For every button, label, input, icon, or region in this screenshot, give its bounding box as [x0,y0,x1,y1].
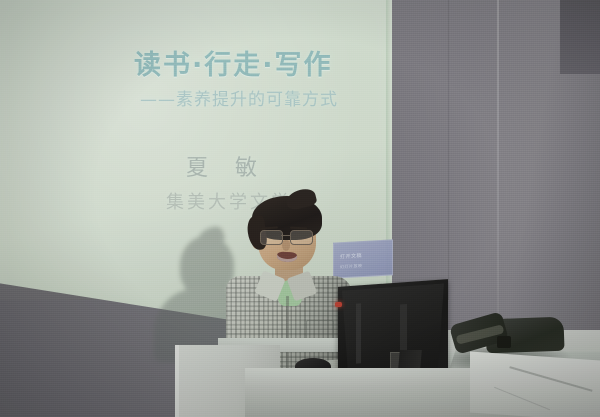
lens-left [260,230,283,245]
slide-speaker-name: 夏 敏 [186,150,267,182]
lens-right [290,230,313,245]
nose [282,240,290,251]
monitor-vent-left [356,303,361,363]
slide-title: 读书·行走·写作 [134,43,333,82]
desk-front-right [470,351,600,417]
wall-seam-secondary [448,0,449,300]
lecture-photograph: 读书·行走·写作 ——素养提升的可靠方式 夏 敏 集美大学文学院 打开文稿 幻灯… [0,0,600,417]
wall-seam [497,0,499,330]
monitor-power-led [335,302,342,307]
bag-buckle [497,336,511,348]
ceiling-corner [560,0,600,74]
shirt-placket [286,296,289,374]
podium-edge [175,345,179,417]
slide-subtitle: ——素养提升的可靠方式 [140,85,338,110]
glasses-bridge [281,235,290,236]
